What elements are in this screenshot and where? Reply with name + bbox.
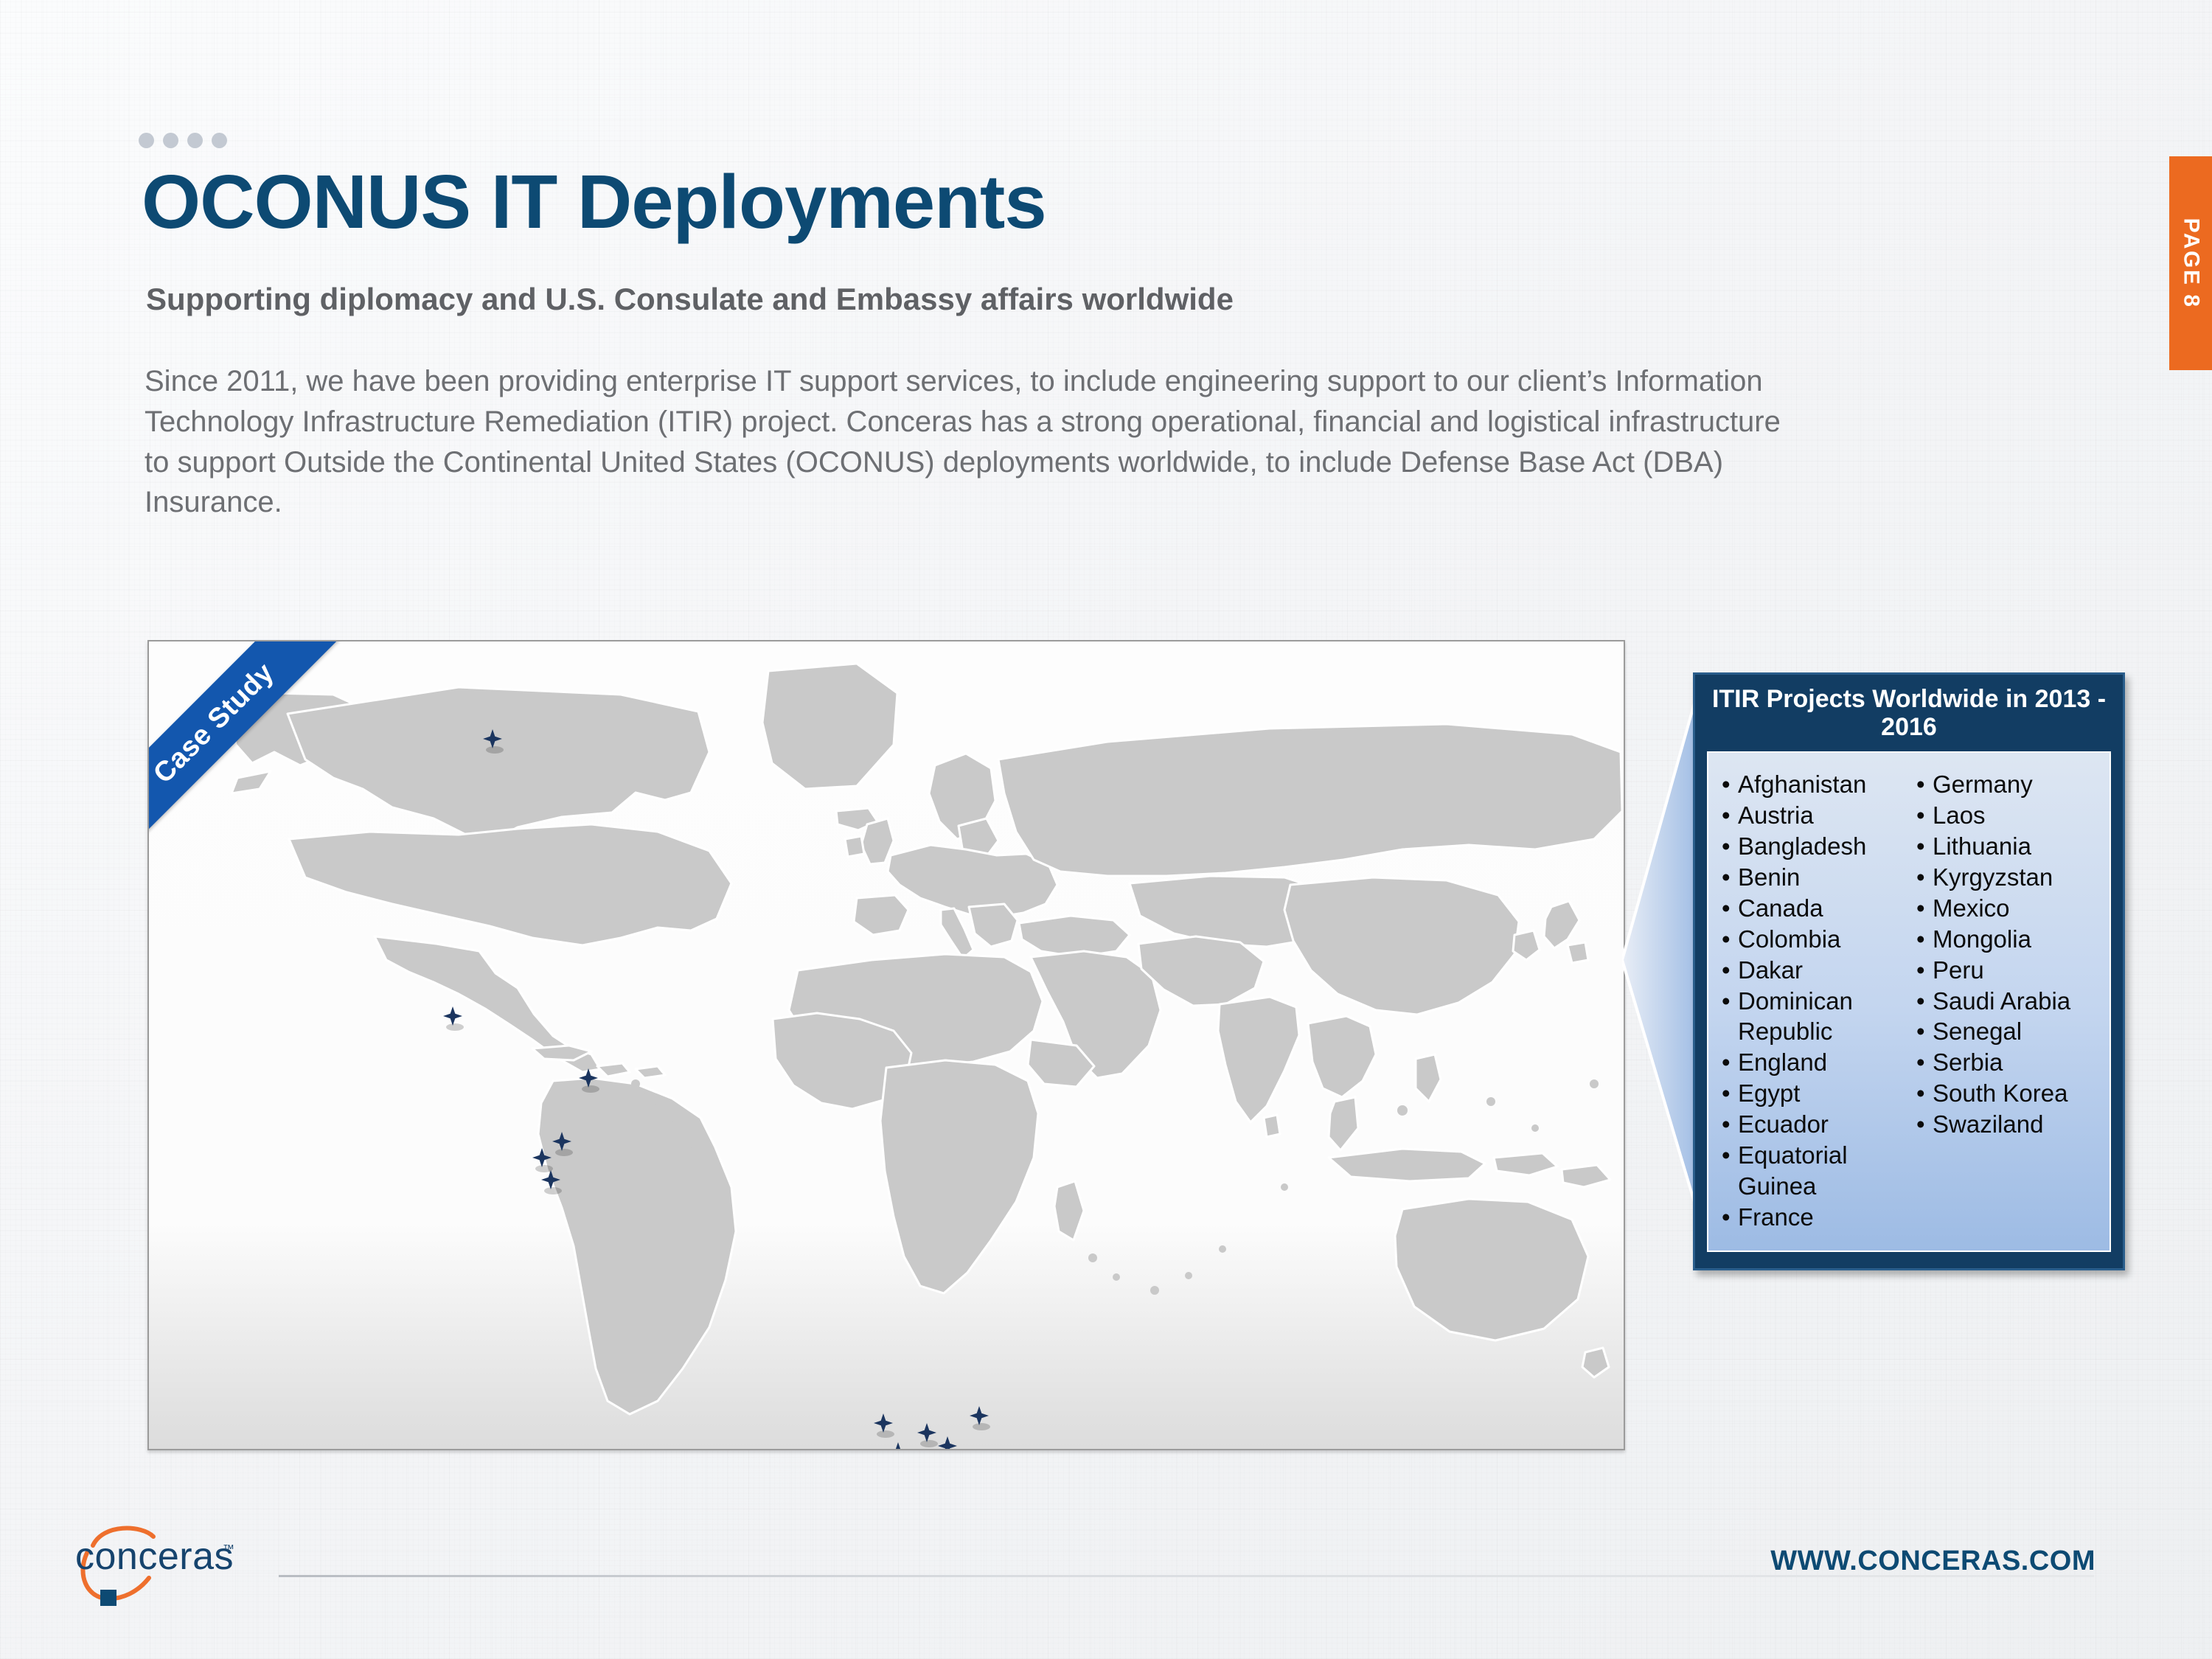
page-subtitle: Supporting diplomacy and U.S. Consulate … [146,282,1234,317]
callout-body: •Afghanistan•Austria•Bangladesh•Benin•Ca… [1707,751,2111,1252]
bullet-icon: • [1916,862,1933,893]
country-name: England [1738,1047,1827,1078]
bullet-icon: • [1722,955,1738,986]
country-list-item: •Colombia [1722,924,1909,955]
bullet-icon: • [1916,1109,1933,1140]
bullet-icon: • [1722,1047,1738,1078]
callout-pointer-icon [1622,672,1703,1233]
country-list-item: •Kyrgyzstan [1916,862,2104,893]
bullet-icon: • [1722,1202,1738,1233]
country-list-item: •Dominican [1722,986,1909,1017]
map-marker-austria [938,1436,959,1449]
country-list-item: •Laos [1916,800,2104,831]
bullet-icon: • [1916,800,1933,831]
country-name: South Korea [1933,1078,2067,1109]
website-url: WWW.CONCERAS.COM [1770,1545,2096,1577]
bullet-icon: • [1722,924,1738,955]
country-list-item: •France [1722,1202,1909,1233]
country-name: Afghanistan [1738,769,1866,800]
country-list-item: •Republic [1722,1016,1909,1047]
country-list-item: •Equatorial [1722,1140,1909,1171]
bullet-icon: • [1916,893,1933,924]
bullet-icon: • [1722,1109,1738,1140]
bullet-icon: • [1916,955,1933,986]
bullet-icon: • [1916,924,1933,955]
world-map-graphic [149,641,1624,1449]
country-name: Kyrgyzstan [1933,862,2053,893]
logo-trademark: ™ [223,1543,234,1556]
world-map-panel: Case Study [147,640,1625,1450]
country-list-item: •Dakar [1722,955,1909,986]
country-column-right: •Germany•Laos•Lithuania•Kyrgyzstan•Mexic… [1909,769,2104,1233]
body-paragraph: Since 2011, we have been providing enter… [145,361,1811,523]
country-list-item: •Mexico [1916,893,2104,924]
country-list-item: •Lithuania [1916,831,2104,862]
page-number-tab: PAGE 8 [2169,156,2212,370]
callout-title: ITIR Projects Worldwide in 2013 - 2016 [1695,675,2123,751]
country-name: Colombia [1738,924,1840,955]
country-list-item: •Senegal [1916,1016,2104,1047]
callout-box: ITIR Projects Worldwide in 2013 - 2016 •… [1693,672,2125,1270]
country-list-item: •Saudi Arabia [1916,986,2104,1017]
decorative-dots [139,133,227,148]
country-name: Mexico [1933,893,2010,924]
country-name: Guinea [1738,1171,1816,1202]
map-marker-england [874,1413,894,1438]
bullet-icon: • [1722,1078,1738,1109]
country-name: Austria [1738,800,1814,831]
country-name: Germany [1933,769,2033,800]
page-title: OCONUS IT Deployments [142,159,1046,246]
bullet-icon: • [1916,986,1933,1017]
bullet-icon: • [1916,1016,1933,1047]
bullet-icon: • [1722,862,1738,893]
country-name: Saudi Arabia [1933,986,2070,1017]
country-list-item: •Egypt [1722,1078,1909,1109]
country-name: Serbia [1933,1047,2003,1078]
map-marker-germany [917,1423,938,1447]
dot-icon-2 [163,133,178,148]
country-name: Equatorial [1738,1140,1848,1171]
country-name: Senegal [1933,1016,2022,1047]
bullet-icon: • [1722,1140,1738,1171]
map-marker-france [888,1442,909,1449]
slide-canvas: PAGE 8 OCONUS IT Deployments Supporting … [0,0,2212,1659]
country-list-item: •Bangladesh [1722,831,1909,862]
country-name: Swaziland [1933,1109,2043,1140]
country-list-item: •Ecuador [1722,1109,1909,1140]
country-name: Dakar [1738,955,1803,986]
country-name: Bangladesh [1738,831,1866,862]
country-list-item: •Austria [1722,800,1909,831]
country-list-item: •Serbia [1916,1047,2104,1078]
country-name: Egypt [1738,1078,1800,1109]
country-name: Laos [1933,800,1986,831]
dot-icon-4 [212,133,227,148]
bullet-icon: • [1916,831,1933,862]
country-name: Benin [1738,862,1800,893]
bullet-icon: • [1722,986,1738,1017]
country-name: Mongolia [1933,924,2031,955]
country-list-item: •Peru [1916,955,2104,986]
country-name: Peru [1933,955,1984,986]
logo-wordmark: conceras [75,1535,234,1578]
country-name: Dominican [1738,986,1853,1017]
country-name: Ecuador [1738,1109,1829,1140]
country-name: France [1738,1202,1814,1233]
country-list-item: •Germany [1916,769,2104,800]
conceras-logo: conceras ™ [71,1520,292,1616]
country-list-item: •South Korea [1916,1078,2104,1109]
country-name: Republic [1738,1016,1832,1047]
bullet-icon: • [1916,1078,1933,1109]
country-list-item: •Mongolia [1916,924,2104,955]
country-list-item: •Canada [1722,893,1909,924]
dot-icon-3 [187,133,203,148]
country-name: Canada [1738,893,1823,924]
bullet-icon: • [1722,800,1738,831]
country-column-left: •Afghanistan•Austria•Bangladesh•Benin•Ca… [1714,769,1909,1233]
country-list-item: •England [1722,1047,1909,1078]
map-marker-mexico [443,1006,464,1031]
country-list-item: •Guinea [1722,1171,1909,1202]
dot-icon-1 [139,133,154,148]
bullet-icon: • [1722,831,1738,862]
page-number-label: PAGE 8 [2178,218,2203,309]
bullet-icon: • [1916,769,1933,800]
bullet-icon: • [1916,1047,1933,1078]
country-list-item: •Afghanistan [1722,769,1909,800]
bullet-icon: • [1722,769,1738,800]
bullet-icon: • [1722,893,1738,924]
country-list-item: •Benin [1722,862,1909,893]
map-marker-lithuania [970,1406,990,1430]
country-list-item: •Swaziland [1916,1109,2104,1140]
country-name: Lithuania [1933,831,2031,862]
